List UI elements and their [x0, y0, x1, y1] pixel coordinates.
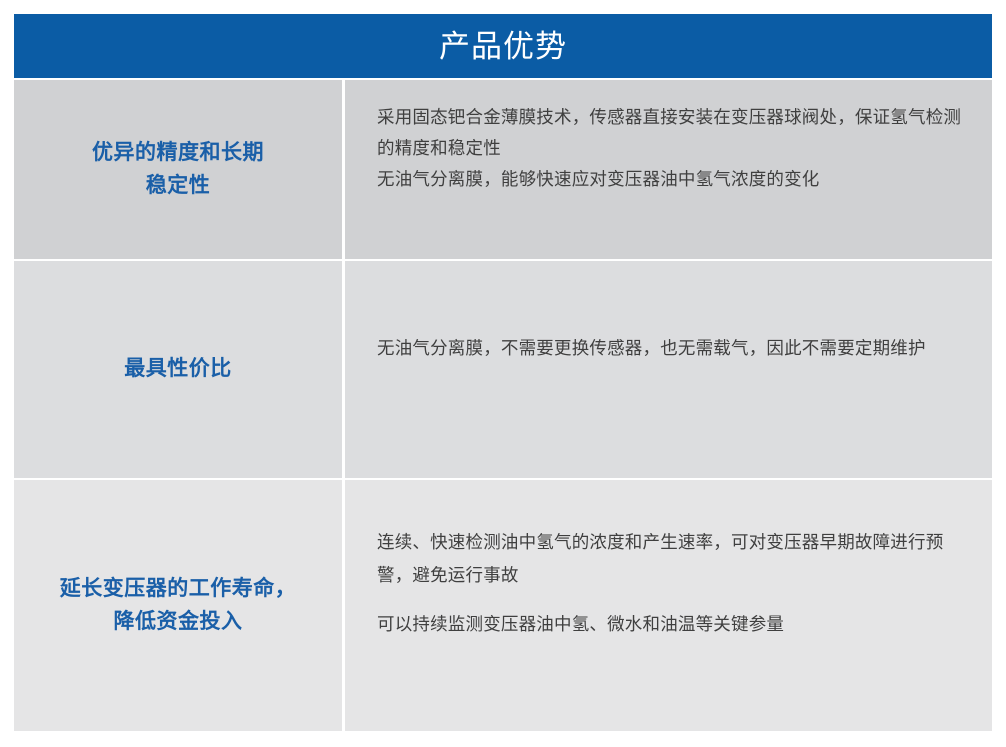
- row-title-text: 延长变压器的工作寿命， 降低资金投入: [60, 573, 297, 638]
- row-title-line: 优异的精度和长期: [92, 141, 264, 164]
- row-content-cell: 连续、快速检测油中氢气的浓度和产生速率，可对变压器早期故障进行预警，避免运行事故…: [345, 480, 992, 731]
- row-title-line: 延长变压器的工作寿命，: [60, 577, 297, 600]
- page-title: 产品优势: [439, 31, 567, 62]
- row-title-cell: 最具性价比: [14, 261, 345, 478]
- row-title-text: 优异的精度和长期 稳定性: [92, 137, 264, 202]
- row-paragraph: 无油气分离膜，能够快速应对变压器油中氢气浓度的变化: [377, 164, 970, 195]
- row-paragraph: 采用固态钯合金薄膜技术，传感器直接安装在变压器球阀处，保证氢气检测的精度和稳定性: [377, 102, 970, 164]
- row-content-cell: 无油气分离膜，不需要更换传感器，也无需载气，因此不需要定期维护: [345, 261, 992, 478]
- row-paragraph: 无油气分离膜，不需要更换传感器，也无需载气，因此不需要定期维护: [377, 333, 970, 364]
- slide-canvas: 产品优势 优异的精度和长期 稳定性 采用固态钯合金薄膜技术，传感器直接安装在变压…: [0, 0, 1006, 747]
- table-body: 优异的精度和长期 稳定性 采用固态钯合金薄膜技术，传感器直接安装在变压器球阀处，…: [14, 78, 992, 731]
- row-title-line: 降低资金投入: [114, 610, 243, 633]
- table-row: 最具性价比 无油气分离膜，不需要更换传感器，也无需载气，因此不需要定期维护: [14, 259, 992, 478]
- row-title-line: 最具性价比: [124, 357, 232, 380]
- table-header-banner: 产品优势: [14, 14, 992, 78]
- row-title-text: 最具性价比: [124, 353, 232, 386]
- table-row: 延长变压器的工作寿命， 降低资金投入 连续、快速检测油中氢气的浓度和产生速率，可…: [14, 478, 992, 731]
- row-title-cell: 优异的精度和长期 稳定性: [14, 80, 345, 259]
- row-title-line: 稳定性: [146, 174, 211, 197]
- row-paragraph: 可以持续监测变压器油中氢、微水和油温等关键参量: [377, 608, 970, 640]
- row-content-cell: 采用固态钯合金薄膜技术，传感器直接安装在变压器球阀处，保证氢气检测的精度和稳定性…: [345, 80, 992, 259]
- row-paragraph: 连续、快速检测油中氢气的浓度和产生速率，可对变压器早期故障进行预警，避免运行事故: [377, 526, 970, 591]
- row-title-cell: 延长变压器的工作寿命， 降低资金投入: [14, 480, 345, 731]
- product-advantages-table: 产品优势 优异的精度和长期 稳定性 采用固态钯合金薄膜技术，传感器直接安装在变压…: [14, 14, 992, 731]
- table-row: 优异的精度和长期 稳定性 采用固态钯合金薄膜技术，传感器直接安装在变压器球阀处，…: [14, 78, 992, 259]
